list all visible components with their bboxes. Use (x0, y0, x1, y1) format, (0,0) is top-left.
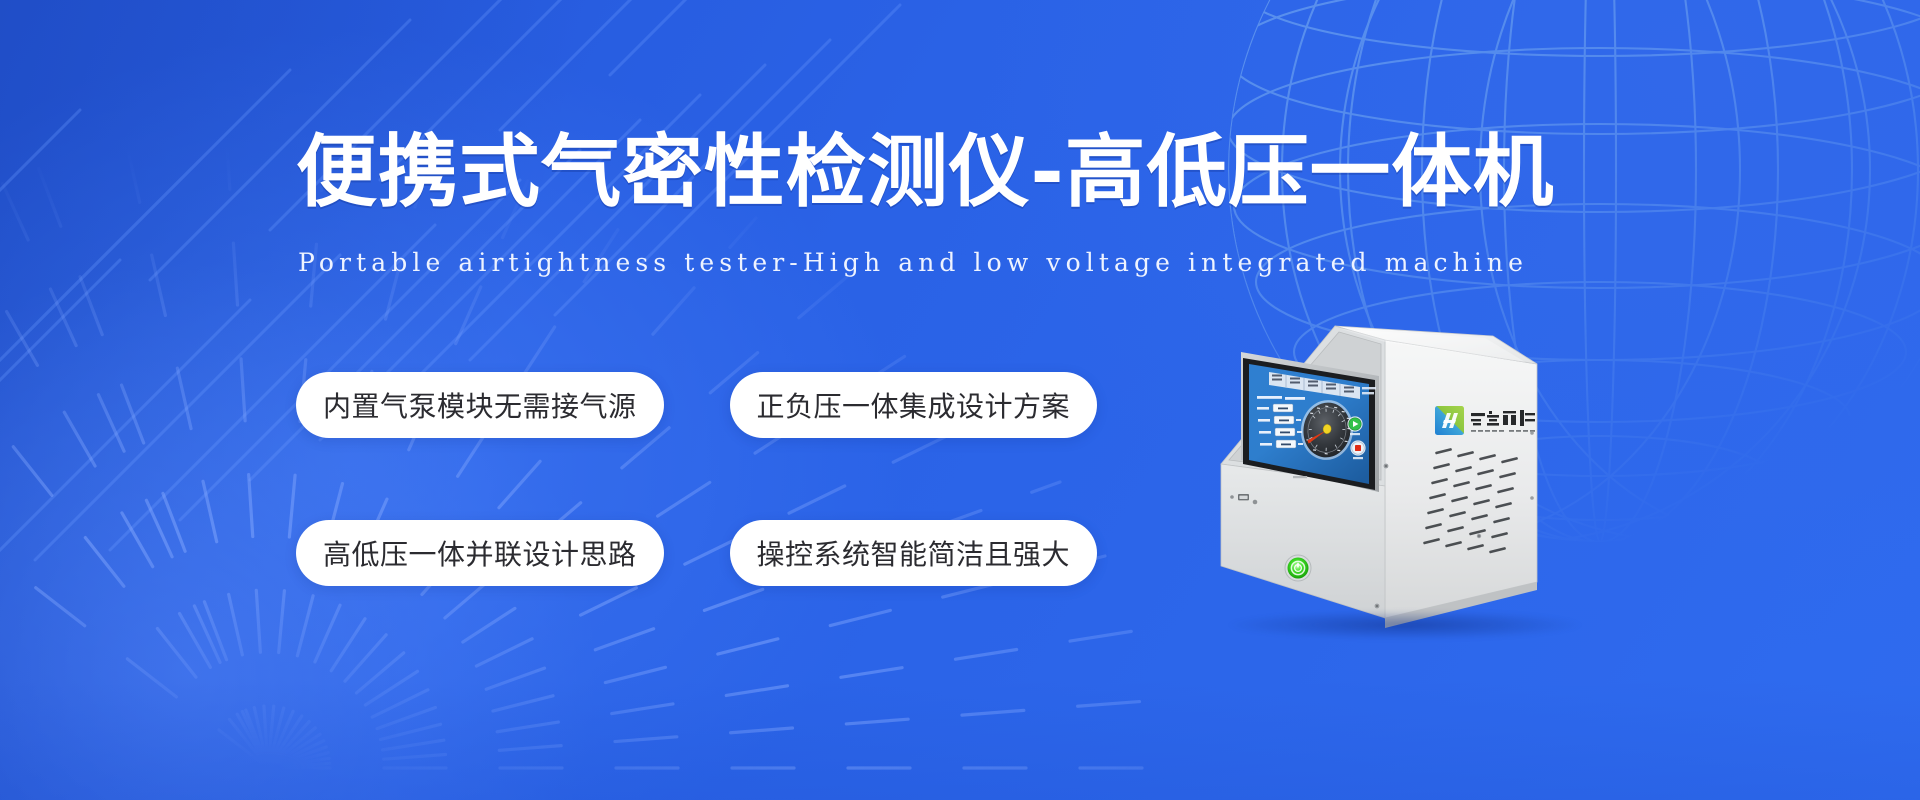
device-illustration (1185, 318, 1625, 658)
feature-pill[interactable]: 内置气泵模块无需接气源 (296, 372, 664, 438)
subheadline-english: Portable airtightness tester-High and lo… (298, 246, 1628, 280)
feature-pill-row: 高低压一体并联设计思路 操控系统智能简洁且强大 (296, 520, 1116, 586)
product-device-image (1185, 318, 1625, 658)
banner-content: 便携式气密性检测仪-高低压一体机 Portable airtightness t… (0, 0, 1920, 800)
device-power-button[interactable] (1285, 555, 1311, 581)
feature-pill[interactable]: 操控系统智能简洁且强大 (730, 520, 1098, 586)
logo-brand-en (1471, 430, 1535, 432)
feature-pill[interactable]: 高低压一体并联设计思路 (296, 520, 664, 586)
feature-pill-row: 内置气泵模块无需接气源 正负压一体集成设计方案 (296, 372, 1116, 438)
headline-chinese: 便携式气密性检测仪-高低压一体机 (296, 129, 1653, 215)
device-shadow (1225, 610, 1585, 640)
stop-icon (1355, 445, 1361, 451)
screen-caption (1293, 476, 1307, 478)
promo-banner: 便携式气密性检测仪-高低压一体机 Portable airtightness t… (0, 0, 1920, 800)
feature-pill-list: 内置气泵模块无需接气源 正负压一体集成设计方案 高低压一体并联设计思路 操控系统… (296, 372, 1116, 586)
feature-pill[interactable]: 正负压一体集成设计方案 (730, 372, 1098, 438)
device-right-panel (1385, 340, 1537, 618)
